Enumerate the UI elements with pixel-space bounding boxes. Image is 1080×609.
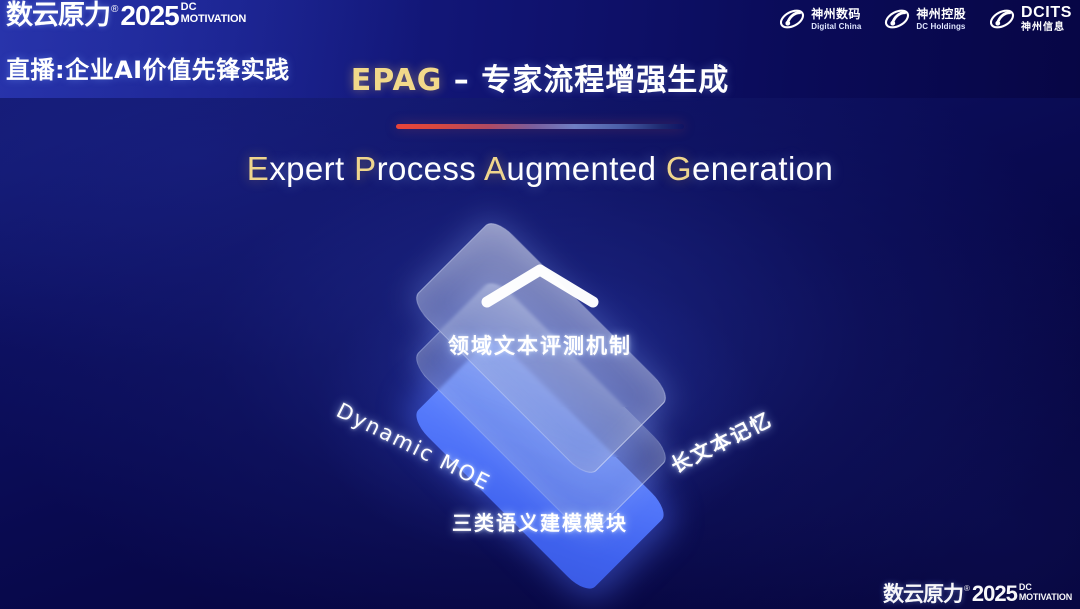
partner-name-en: DC Holdings <box>916 23 966 31</box>
swoosh-icon <box>778 6 806 32</box>
brand-logo-cn: 数云原力 <box>6 1 110 31</box>
isometric-layer-diagram: 三类语义建模模块 Dynamic MOE 长文本记忆 领域文本评测机制 <box>290 222 790 590</box>
swoosh-icon <box>883 6 911 32</box>
partner-name-en: Digital China <box>811 23 861 31</box>
brand-logo-motivation: MOTIVATION <box>181 13 246 25</box>
watermark-cn: 数云原力 <box>883 582 963 606</box>
title-separator: – <box>442 63 481 98</box>
subtitle-rest-augmented: ugmented <box>506 150 656 187</box>
brand-logo: 数云原力 ® 2025 DC MOTIVATION <box>6 1 246 31</box>
swoosh-icon <box>988 6 1016 32</box>
subtitle-space-2 <box>476 150 484 187</box>
slide-canvas: 数云原力 ® 2025 DC MOTIVATION 直播:企业AI价值先锋实践 … <box>0 0 1080 609</box>
watermark-registered: ® <box>964 584 970 594</box>
brand-logo-dcm: DC MOTIVATION <box>181 2 246 25</box>
title-chinese: 专家流程增强生成 <box>481 63 729 98</box>
partner-name-cn: 神州信息 <box>1021 23 1072 33</box>
subtitle-cap-g: G <box>666 150 692 187</box>
partner-name-cn: 神州数码 <box>811 8 861 20</box>
page-title: EPAG – 专家流程增强生成 <box>0 55 1080 99</box>
partner-logo-dc-holdings: 神州控股 DC Holdings <box>883 6 966 32</box>
gradient-divider <box>396 124 684 129</box>
partner-logo-dcits: DCITS 神州信息 <box>988 5 1072 33</box>
subtitle-rest-generation: eneration <box>692 150 833 187</box>
title-acronym: EPAG <box>351 63 443 98</box>
registered-mark: ® <box>111 3 118 16</box>
subtitle-cap-p: P <box>354 150 376 187</box>
partner-logos: 神州数码 Digital China 神州控股 DC Holdings <box>778 5 1072 33</box>
subtitle-cap-a: A <box>484 150 506 187</box>
layer-label-bottom: 三类语义建模模块 <box>290 507 790 536</box>
watermark-dcm: DC MOTIVATION <box>1019 583 1072 602</box>
partner-names: 神州数码 Digital China <box>811 8 861 31</box>
partner-logo-digital-china: 神州数码 Digital China <box>778 6 861 32</box>
watermark-dc: DC <box>1019 583 1072 592</box>
subtitle-rest-expert: xpert <box>269 150 344 187</box>
subtitle-cap-e: E <box>247 150 269 187</box>
watermark-year: 2025 <box>972 582 1017 606</box>
partner-names: 神州控股 DC Holdings <box>916 8 966 31</box>
partner-name-cn: 神州控股 <box>916 8 966 20</box>
layer-label-top: 领域文本评测机制 <box>290 330 790 360</box>
subtitle-english: Expert Process Augmented Generation <box>0 150 1080 188</box>
subtitle-space-1 <box>345 150 355 187</box>
subtitle-rest-process: rocess <box>377 150 477 187</box>
watermark-motivation: MOTIVATION <box>1019 592 1072 602</box>
brand-logo-dc: DC <box>181 2 246 13</box>
partner-name-dcits: DCITS <box>1021 5 1072 21</box>
corner-watermark: 数云原力 ® 2025 DC MOTIVATION <box>883 582 1072 606</box>
subtitle-space-3 <box>656 150 666 187</box>
brand-logo-year: 2025 <box>120 1 178 31</box>
partner-names: DCITS 神州信息 <box>1021 5 1072 33</box>
